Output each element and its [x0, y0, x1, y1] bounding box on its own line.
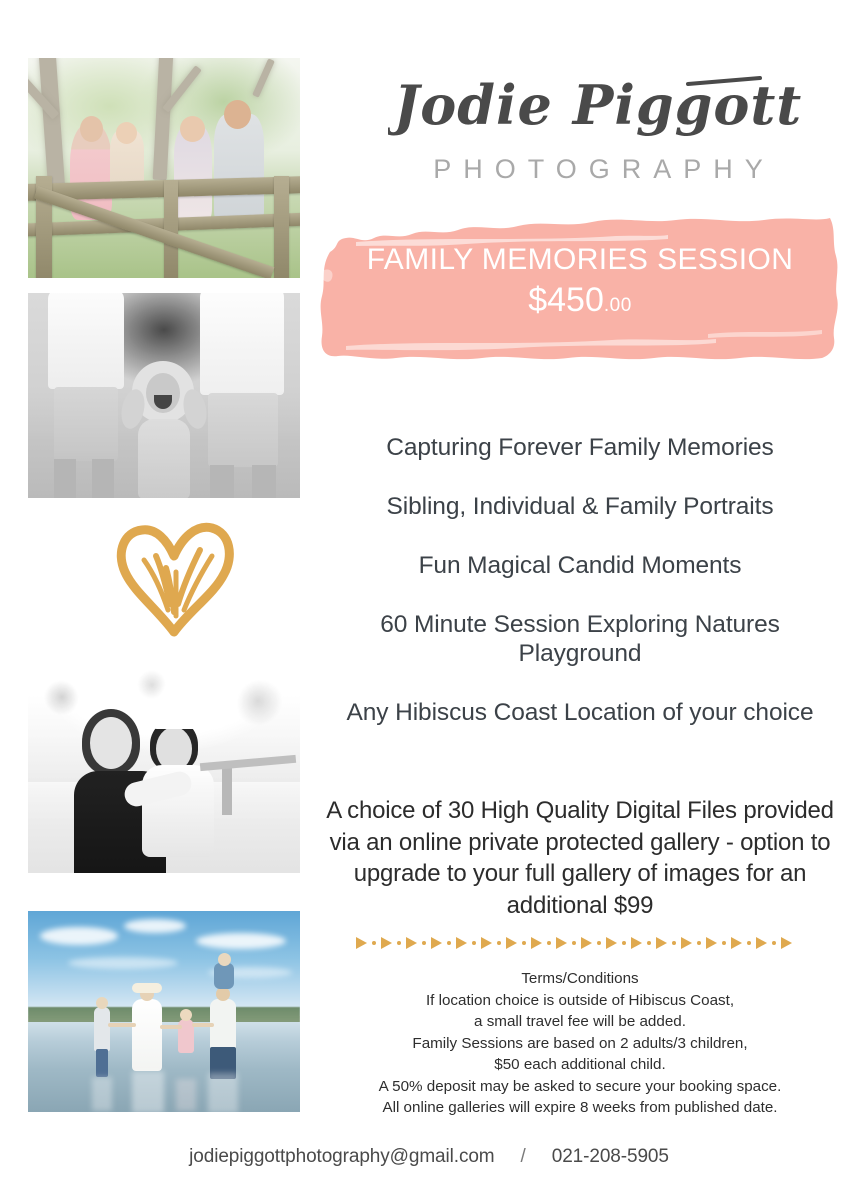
contact-email[interactable]: jodiepiggottphotography@gmail.com [189, 1146, 494, 1167]
banner-price-cents: .00 [604, 295, 632, 316]
footer-contact: jodiepiggottphotography@gmail.com/021-20… [0, 1146, 858, 1168]
terms-heading: Terms/Conditions [300, 968, 858, 990]
brand-subtitle: PHOTOGRAPHY [388, 154, 808, 185]
terms-conditions: Terms/Conditions If location choice is o… [300, 968, 858, 1119]
feature-item: Sibling, Individual & Family Portraits [324, 493, 836, 522]
heart-icon [104, 516, 244, 638]
terms-line: If location choice is outside of Hibiscu… [300, 990, 858, 1012]
arrow-divider [356, 934, 804, 952]
package-description: A choice of 30 High Quality Digital File… [324, 795, 836, 922]
feature-item: 60 Minute Session Exploring Natures Play… [324, 611, 836, 669]
banner-title: FAMILY MEMORIES SESSION [330, 243, 830, 277]
terms-line: A 50% deposit may be asked to secure you… [300, 1076, 858, 1098]
contact-phone[interactable]: 021-208-5905 [552, 1146, 669, 1167]
feature-list: Capturing Forever Family Memories Siblin… [324, 434, 836, 727]
terms-line: $50 each additional child. [300, 1054, 858, 1076]
banner-price-main: $450 [528, 281, 604, 319]
svg-text:Jodie Piggott: Jodie Piggott [388, 73, 802, 137]
photo-family-on-fence [28, 58, 300, 278]
banner-price: $450.00 [330, 283, 830, 319]
photo-laughing-girl [28, 293, 300, 498]
terms-line: Family Sessions are based on 2 adults/3 … [300, 1033, 858, 1055]
brand-logo: Jodie Piggott PHOTOGRAPHY [388, 62, 808, 192]
terms-line: a small travel fee will be added. [300, 1011, 858, 1033]
price-banner-text: FAMILY MEMORIES SESSION $450.00 [330, 243, 830, 318]
contact-separator: / [495, 1146, 552, 1167]
terms-line: All online galleries will expire 8 weeks… [300, 1097, 858, 1119]
feature-item: Fun Magical Candid Moments [324, 552, 836, 581]
photo-mother-piggyback [28, 667, 300, 873]
feature-item: Capturing Forever Family Memories [324, 434, 836, 463]
photo-family-at-beach [28, 911, 300, 1112]
brand-script-name: Jodie Piggott [388, 62, 808, 152]
feature-item: Any Hibiscus Coast Location of your choi… [324, 699, 836, 728]
flyer-page: Jodie Piggott PHOTOGRAPHY FAMILY MEMORIE… [0, 0, 858, 1200]
photo-water [28, 1022, 300, 1112]
